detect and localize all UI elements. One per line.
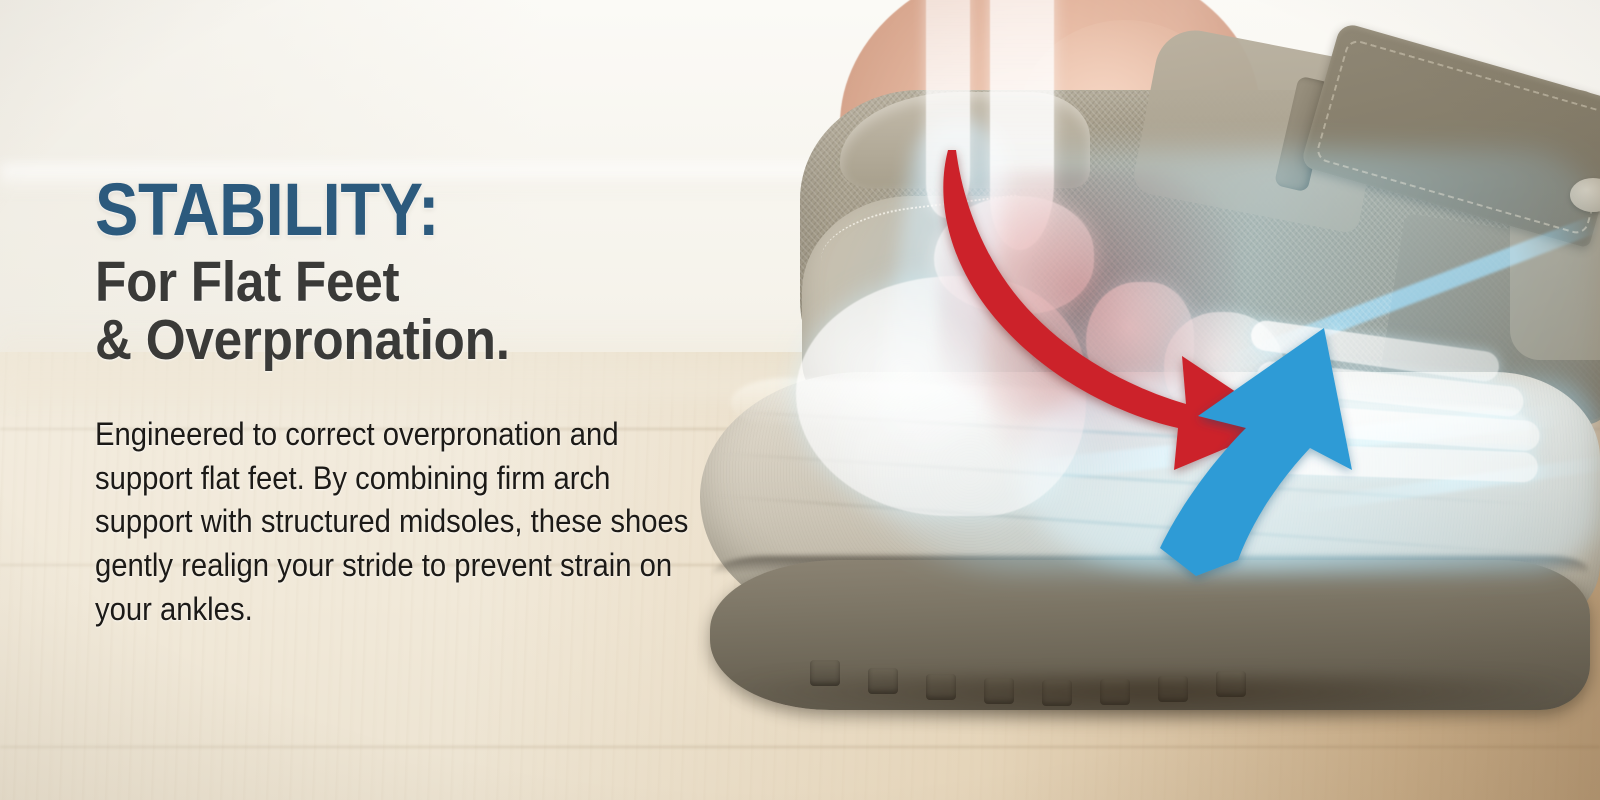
image-vignette	[0, 0, 1600, 800]
stability-shoe-banner: STABILITY: For Flat Feet & Overpronation…	[0, 0, 1600, 800]
